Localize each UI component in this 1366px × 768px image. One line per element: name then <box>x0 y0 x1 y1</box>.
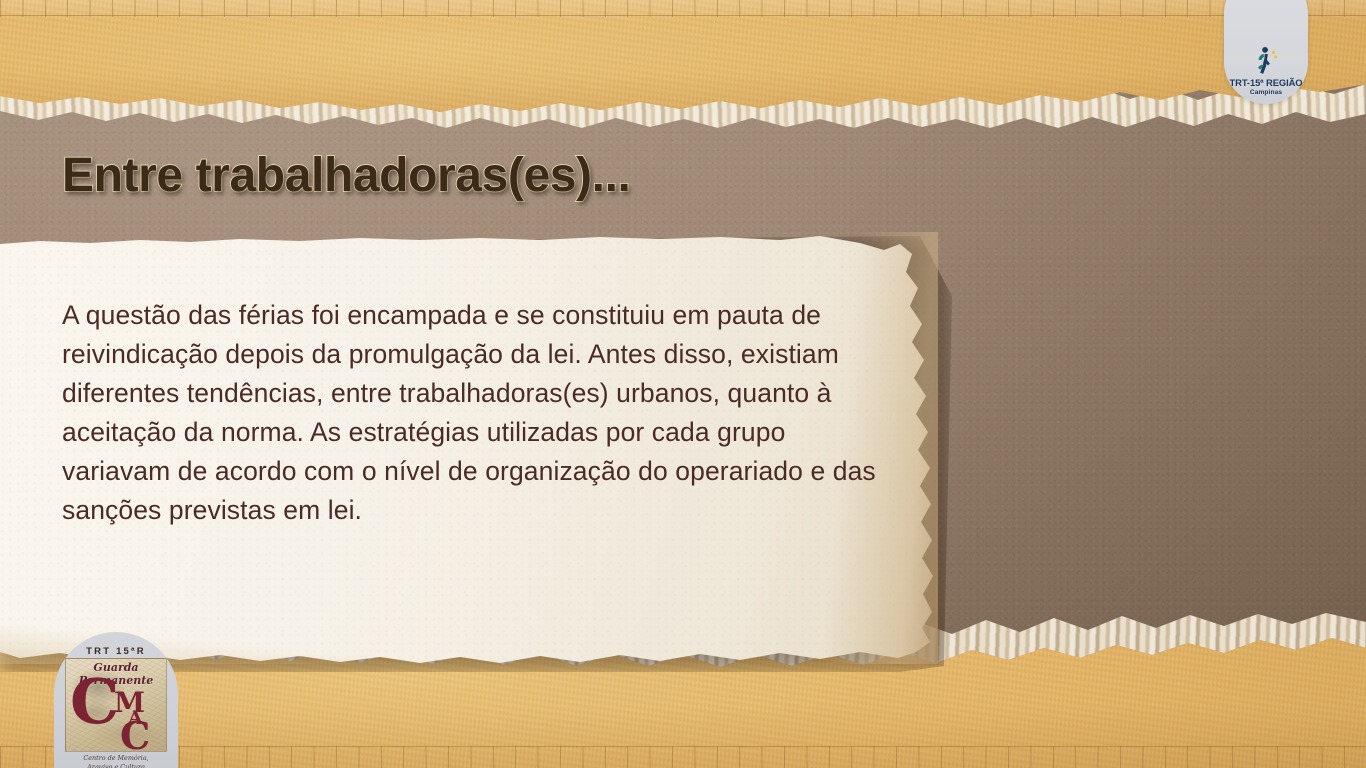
top-torn-paper-band <box>0 0 1366 120</box>
cmac-caption-line-2: Arquivo e Cultura <box>65 763 167 768</box>
slide-body-paragraph: A questão das férias foi encampada e se … <box>62 296 898 530</box>
cmac-monogram-c1: C <box>70 671 119 733</box>
cmac-logo-inner: TRT 15ªR Guarda Permanente C M A C Centr… <box>65 646 167 768</box>
cmac-logo: TRT 15ªR Guarda Permanente C M A C Centr… <box>54 632 178 768</box>
trt-15-regiao-badge: TRT-15ª REGIÃO Campinas <box>1224 0 1308 104</box>
slide-canvas: Entre trabalhadoras(es)... A questão das… <box>0 0 1366 768</box>
bottom-grid-ruling <box>0 746 1366 768</box>
cmac-trt-label: TRT 15ªR <box>65 646 167 657</box>
cmac-monogram-c2: C <box>120 717 150 752</box>
slide-title: Entre trabalhadoras(es)... <box>62 148 630 203</box>
person-running-icon <box>1251 45 1281 75</box>
cmac-engraving-plate: Guarda Permanente C M A C <box>65 658 167 752</box>
cmac-caption: Centro de Memória, Arquivo e Cultura <box>65 754 167 768</box>
badge-subtitle: Campinas <box>1250 89 1282 96</box>
badge-title: TRT-15ª REGIÃO <box>1230 77 1303 88</box>
top-grid-ruling <box>0 0 1366 17</box>
cmac-caption-line-1: Centro de Memória, <box>65 754 167 763</box>
